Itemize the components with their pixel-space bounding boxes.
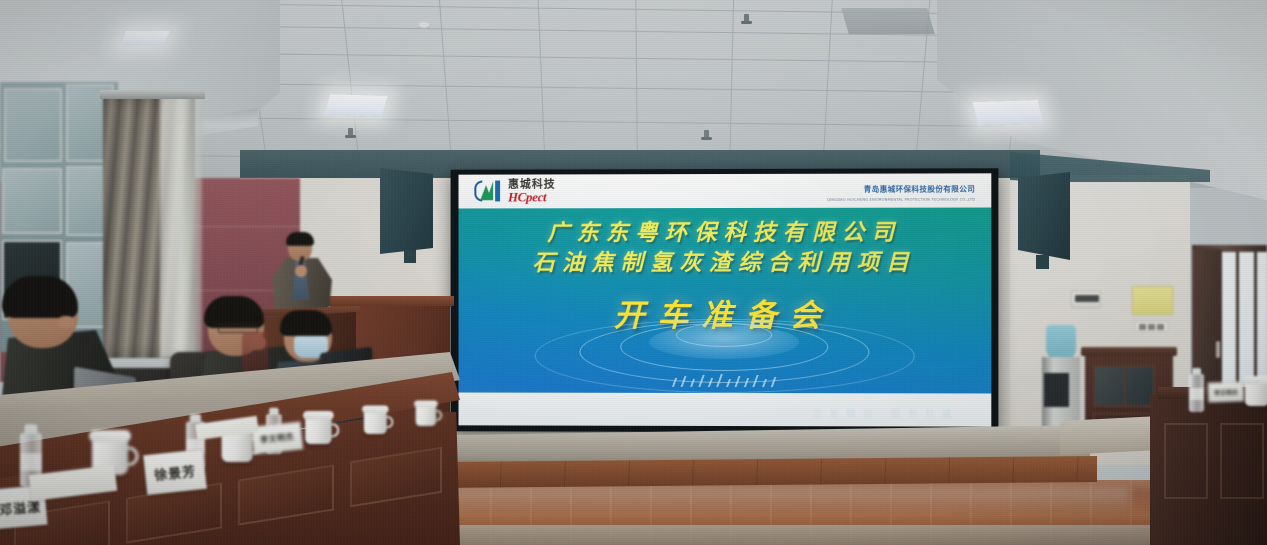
name-tent: 李文明杰 bbox=[1208, 381, 1245, 402]
sprinkler-head-icon bbox=[744, 14, 749, 23]
tea-mug[interactable] bbox=[414, 401, 440, 427]
presentation-slide: 惠城科技 HCpect 青岛惠城环保科技股份有限公司 QINGDAO HUICH… bbox=[459, 173, 992, 426]
ceiling-panel-light-right bbox=[971, 99, 1045, 126]
tea-mug[interactable] bbox=[303, 411, 336, 444]
logo-company-cn: 惠城科技 bbox=[508, 178, 556, 189]
slide-title-line-2: 石油焦制氢灰渣综合利用项目 bbox=[459, 249, 992, 279]
door-handle[interactable] bbox=[1216, 341, 1220, 358]
slide-ripple-graphic bbox=[459, 287, 992, 393]
name-tent: 李文明杰 bbox=[251, 421, 304, 454]
tea-mug[interactable] bbox=[1243, 376, 1267, 406]
smoke-detector-icon bbox=[418, 22, 430, 29]
water-bottle[interactable] bbox=[1189, 368, 1204, 412]
sprinkler-head-icon bbox=[348, 128, 353, 137]
logo-company-en: HCpect bbox=[508, 190, 556, 203]
projection-screen-surface: 惠城科技 HCpect 青岛惠城环保科技股份有限公司 QINGDAO HUICH… bbox=[459, 173, 992, 426]
name-tent-text: 李文明杰 bbox=[260, 431, 295, 445]
wall-speaker-right-mount bbox=[1036, 255, 1049, 269]
wall-speaker-left bbox=[380, 168, 433, 254]
projection-screen[interactable]: 惠城科技 HCpect 青岛惠城环保科技股份有限公司 QINGDAO HUICH… bbox=[451, 168, 999, 432]
ceiling-panel-light-left bbox=[323, 93, 389, 117]
water-bottle-tank bbox=[1046, 325, 1076, 359]
wall-ac-control-panel[interactable] bbox=[1071, 291, 1101, 308]
company-logo: 惠城科技 HCpect bbox=[474, 178, 555, 203]
slide-header-company: 青岛惠城环保科技股份有限公司 bbox=[864, 183, 975, 194]
floor-reflection bbox=[430, 488, 1130, 514]
right-foreground-desk bbox=[1150, 395, 1267, 545]
wall-speaker-left-mount bbox=[404, 250, 416, 263]
ceiling-air-vent bbox=[841, 8, 934, 34]
hc-logo-mark-icon bbox=[474, 179, 505, 202]
sprinkler-head-icon bbox=[704, 130, 709, 139]
slide-title-block: 广东东粤环保科技有限公司 石油焦制氢灰渣综合利用项目 bbox=[459, 219, 992, 279]
window-pane bbox=[4, 88, 62, 162]
tea-mug[interactable] bbox=[362, 406, 391, 435]
slide-title-line-1: 广东东粤环保科技有限公司 bbox=[459, 219, 992, 249]
light-switch-plate[interactable] bbox=[1135, 321, 1168, 332]
slide-slogan: 您发微信 服务共赢 bbox=[812, 405, 959, 420]
slide-header-company-sub: QINGDAO HUICHENG ENVIRONMENTAL PROTECTIO… bbox=[827, 197, 975, 201]
podium-riser-top bbox=[326, 296, 454, 306]
window-pane bbox=[2, 168, 62, 234]
curtain-rail bbox=[100, 90, 205, 99]
conference-room-photo: 惠城科技 HCpect 青岛惠城环保科技股份有限公司 QINGDAO HUICH… bbox=[0, 0, 1267, 545]
water-dispenser[interactable] bbox=[1042, 325, 1080, 437]
floor-front-sill bbox=[330, 525, 1267, 545]
cabinet-glass-door[interactable] bbox=[1093, 365, 1155, 407]
ceiling-panel-light-far-left bbox=[119, 30, 171, 46]
wall-speaker-right bbox=[1018, 172, 1070, 260]
name-tent-text: 徐景芳 bbox=[153, 460, 197, 483]
yellow-wall-sign bbox=[1132, 286, 1173, 315]
name-tent: 徐景芳 bbox=[143, 449, 207, 495]
name-tent-text: 李文明杰 bbox=[1214, 387, 1238, 397]
